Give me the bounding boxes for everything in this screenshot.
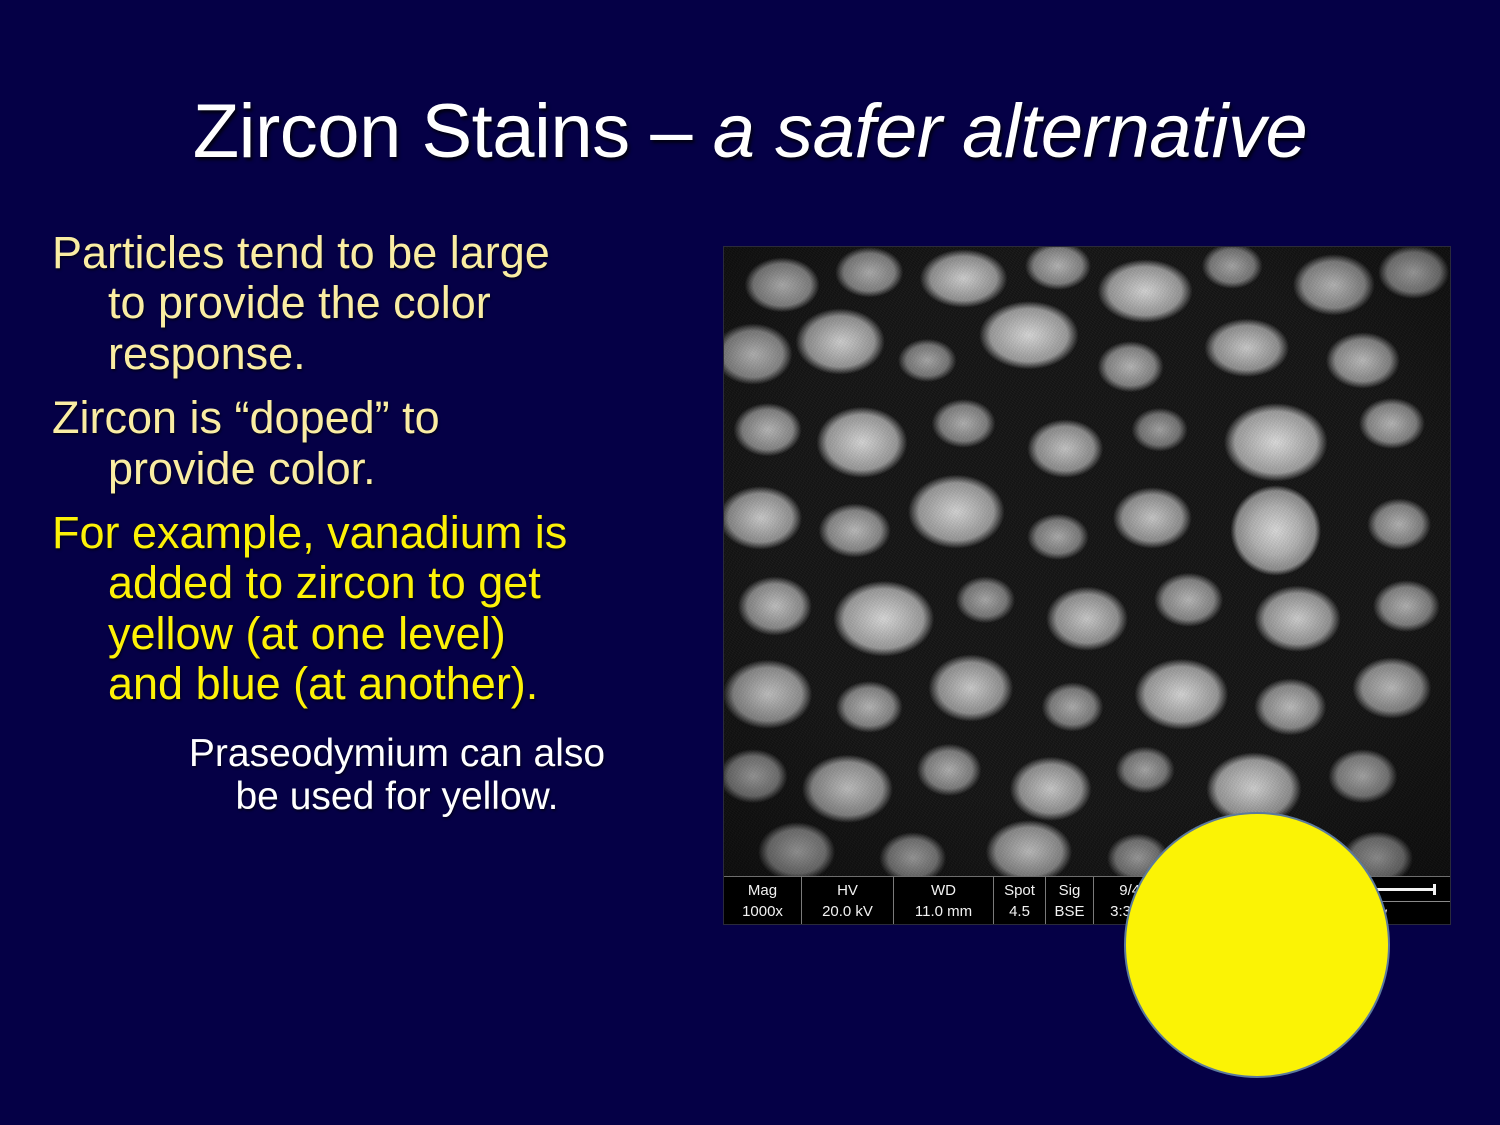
bullet-4-line-1: Praseodymium can also — [92, 732, 702, 776]
databar-mag-header: Mag — [748, 880, 777, 901]
databar-col-hv: HV 20.0 kV — [802, 877, 894, 924]
slide-title: Zircon Stains – a safer alternative — [0, 92, 1500, 172]
bullet-3-line-2: added to zircon to get — [52, 558, 702, 608]
bullet-item-2: Zircon is “doped” to provide color. — [52, 393, 702, 494]
databar-sig-header: Sig — [1059, 880, 1081, 901]
slide-title-italic: a safer alternative — [713, 89, 1308, 174]
databar-hv-header: HV — [837, 880, 858, 901]
slide-title-main: Zircon Stains – — [193, 89, 713, 174]
bullet-item-1: Particles tend to be large to provide th… — [52, 228, 702, 379]
bullet-item-3: For example, vanadium is added to zircon… — [52, 508, 702, 710]
databar-wd-value: 11.0 mm — [915, 901, 972, 922]
bullet-1-line-1: Particles tend to be large — [52, 228, 702, 278]
bullet-3-line-3: yellow (at one level) — [52, 609, 702, 659]
bullet-1-line-2: to provide the color — [52, 278, 702, 328]
body-text-column: Particles tend to be large to provide th… — [52, 228, 702, 833]
databar-col-sig: Sig BSE — [1046, 877, 1094, 924]
bullet-4-line-2: be used for yellow. — [92, 775, 702, 819]
sem-vignette — [724, 247, 1450, 877]
yellow-accent-circle — [1124, 812, 1390, 1078]
bullet-3-line-1: For example, vanadium is — [52, 508, 702, 558]
databar-mag-value: 1000x — [742, 901, 783, 922]
bullet-3-line-4: and blue (at another). — [52, 659, 702, 709]
databar-hv-value: 20.0 kV — [822, 901, 873, 922]
databar-wd-header: WD — [931, 880, 956, 901]
databar-col-spot: Spot 4.5 — [994, 877, 1046, 924]
bullet-item-4: Praseodymium can also be used for yellow… — [52, 732, 702, 819]
sem-micrograph: Mag 1000x HV 20.0 kV WD 11.0 mm Spot 4.5… — [724, 247, 1450, 924]
slide-canvas: Zircon Stains – a safer alternative Part… — [0, 0, 1500, 1125]
bullet-2-line-2: provide color. — [52, 444, 702, 494]
databar-sig-value: BSE — [1054, 901, 1084, 922]
databar-spot-header: Spot — [1004, 880, 1035, 901]
bullet-1-line-3: response. — [52, 329, 702, 379]
bullet-2-line-1: Zircon is “doped” to — [52, 393, 702, 443]
databar-col-wd: WD 11.0 mm — [894, 877, 994, 924]
databar-col-mag: Mag 1000x — [724, 877, 802, 924]
databar-spot-value: 4.5 — [1009, 901, 1030, 922]
